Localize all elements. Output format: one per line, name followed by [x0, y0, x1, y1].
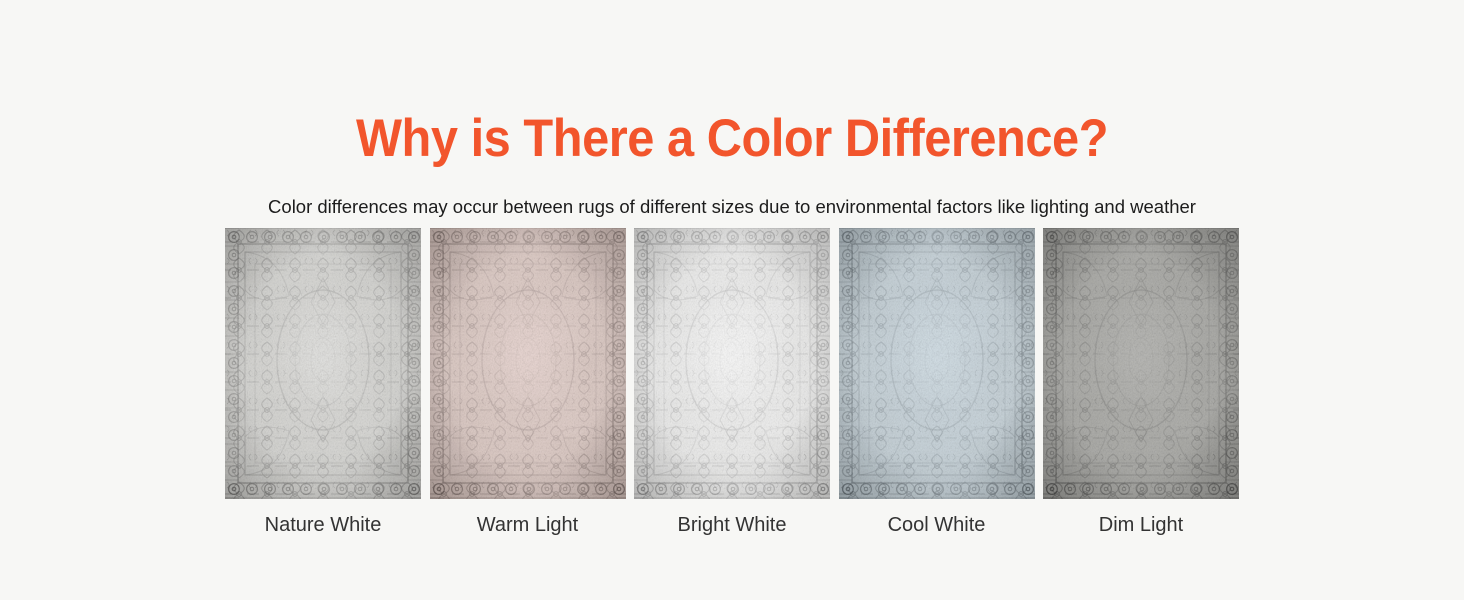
- rug-texture-dim-light: [1043, 228, 1239, 499]
- swatch-dim-light[interactable]: Dim Light: [1043, 228, 1239, 548]
- page-title: Why is There a Color Difference?: [59, 108, 1406, 170]
- color-difference-section: Why is There a Color Difference? Color d…: [0, 0, 1464, 600]
- swatch-bright-white[interactable]: Bright White: [634, 228, 830, 548]
- swatch-nature-white[interactable]: Nature White: [225, 228, 421, 548]
- swatch-label-cool-white: Cool White: [888, 511, 986, 539]
- rug-swatch-image-bright-white[interactable]: [634, 228, 830, 499]
- swatch-label-bright-white: Bright White: [678, 511, 787, 539]
- rug-texture-warm-light: [430, 228, 626, 499]
- rug-swatch-image-nature-white[interactable]: [225, 228, 421, 499]
- rug-texture-nature-white: [225, 228, 421, 499]
- lighting-swatch-row: Nature White Warm Light Bright White: [225, 228, 1239, 548]
- swatch-label-warm-light: Warm Light: [477, 511, 579, 539]
- swatch-warm-light[interactable]: Warm Light: [430, 228, 626, 548]
- swatch-cool-white[interactable]: Cool White: [839, 228, 1035, 548]
- swatch-label-dim-light: Dim Light: [1099, 511, 1183, 539]
- swatch-label-nature-white: Nature White: [265, 511, 382, 539]
- rug-swatch-image-cool-white[interactable]: [839, 228, 1035, 499]
- rug-swatch-image-dim-light[interactable]: [1043, 228, 1239, 499]
- rug-texture-cool-white: [839, 228, 1035, 499]
- page-subtitle: Color differences may occur between rugs…: [0, 194, 1464, 220]
- rug-texture-bright-white: [634, 228, 830, 499]
- rug-swatch-image-warm-light[interactable]: [430, 228, 626, 499]
